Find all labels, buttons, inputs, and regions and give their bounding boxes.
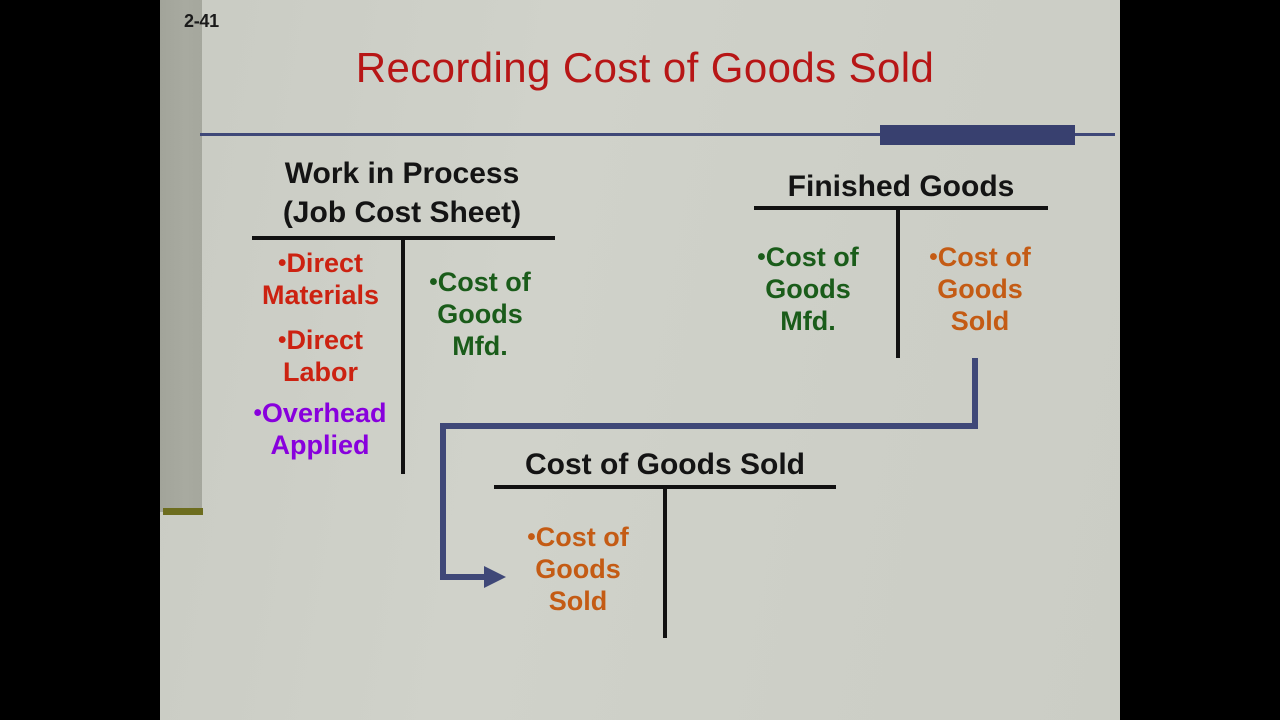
entry-line-2: Goods	[937, 274, 1023, 304]
bullet-icon: •	[757, 244, 765, 271]
entry-line-1: Cost of	[536, 522, 629, 552]
entry-wip-debit-direct-materials: •Direct Materials	[238, 248, 403, 312]
slide-canvas: 2-41 Recording Cost of Goods Sold Work i…	[160, 0, 1120, 720]
arrow-segment-vertical-right	[972, 358, 978, 429]
bullet-icon: •	[429, 269, 437, 296]
arrow-segment-horizontal-top	[440, 423, 978, 429]
entry-line-2: Applied	[271, 430, 370, 460]
entry-line-2: Materials	[262, 280, 379, 310]
entry-line-1: Cost of	[938, 242, 1031, 272]
entry-line-2: Goods	[765, 274, 851, 304]
account-heading-finished-goods: Finished Goods	[754, 170, 1048, 203]
arrow-head-icon	[484, 566, 506, 588]
arrow-segment-vertical-left	[440, 423, 446, 577]
slide-root: 2-41 Recording Cost of Goods Sold Work i…	[0, 0, 1280, 720]
entry-line-1: Cost of	[438, 267, 531, 297]
entry-line-1: Direct	[286, 325, 363, 355]
entry-line-3: Sold	[951, 306, 1010, 336]
olive-accent-bar	[163, 508, 203, 515]
entry-cogs-debit-cost-of-goods-sold: •Cost of Goods Sold	[508, 522, 648, 618]
page-title: Recording Cost of Goods Sold	[200, 44, 1090, 92]
account-heading-cost-of-goods-sold: Cost of Goods Sold	[494, 448, 836, 481]
entry-line-2: Labor	[283, 357, 358, 387]
t-stem-cost-of-goods-sold	[663, 485, 667, 638]
letterbox-left	[0, 0, 160, 720]
account-heading-work-in-process-line1: Work in Process	[252, 157, 552, 190]
account-heading-work-in-process-line2: (Job Cost Sheet)	[252, 196, 552, 229]
entry-line-1: Cost of	[766, 242, 859, 272]
left-decoration-strip	[160, 0, 202, 512]
entry-line-3: Sold	[549, 586, 608, 616]
entry-line-2: Goods	[437, 299, 523, 329]
entry-line-1: Direct	[286, 248, 363, 278]
bullet-icon: •	[929, 244, 937, 271]
arrow-segment-horizontal-bottom	[440, 574, 484, 580]
title-accent-block	[880, 125, 1075, 145]
entry-line-1: Overhead	[262, 398, 387, 428]
t-rule-finished-goods	[754, 206, 1048, 210]
entry-line-3: Mfd.	[780, 306, 835, 336]
page-number: 2-41	[184, 11, 219, 32]
entry-wip-debit-direct-labor: •Direct Labor	[238, 325, 403, 389]
bullet-icon: •	[254, 400, 262, 427]
letterbox-right	[1120, 0, 1280, 720]
bullet-icon: •	[527, 524, 535, 551]
entry-fg-debit-cost-of-goods-mfd: •Cost of Goods Mfd.	[738, 242, 878, 338]
t-stem-finished-goods	[896, 206, 900, 358]
entry-wip-debit-overhead-applied: •Overhead Applied	[230, 398, 410, 462]
entry-line-2: Goods	[535, 554, 621, 584]
entry-wip-credit-cost-of-goods-mfd: •Cost of Goods Mfd.	[415, 267, 545, 363]
entry-line-3: Mfd.	[452, 331, 507, 361]
entry-fg-credit-cost-of-goods-sold: •Cost of Goods Sold	[910, 242, 1050, 338]
